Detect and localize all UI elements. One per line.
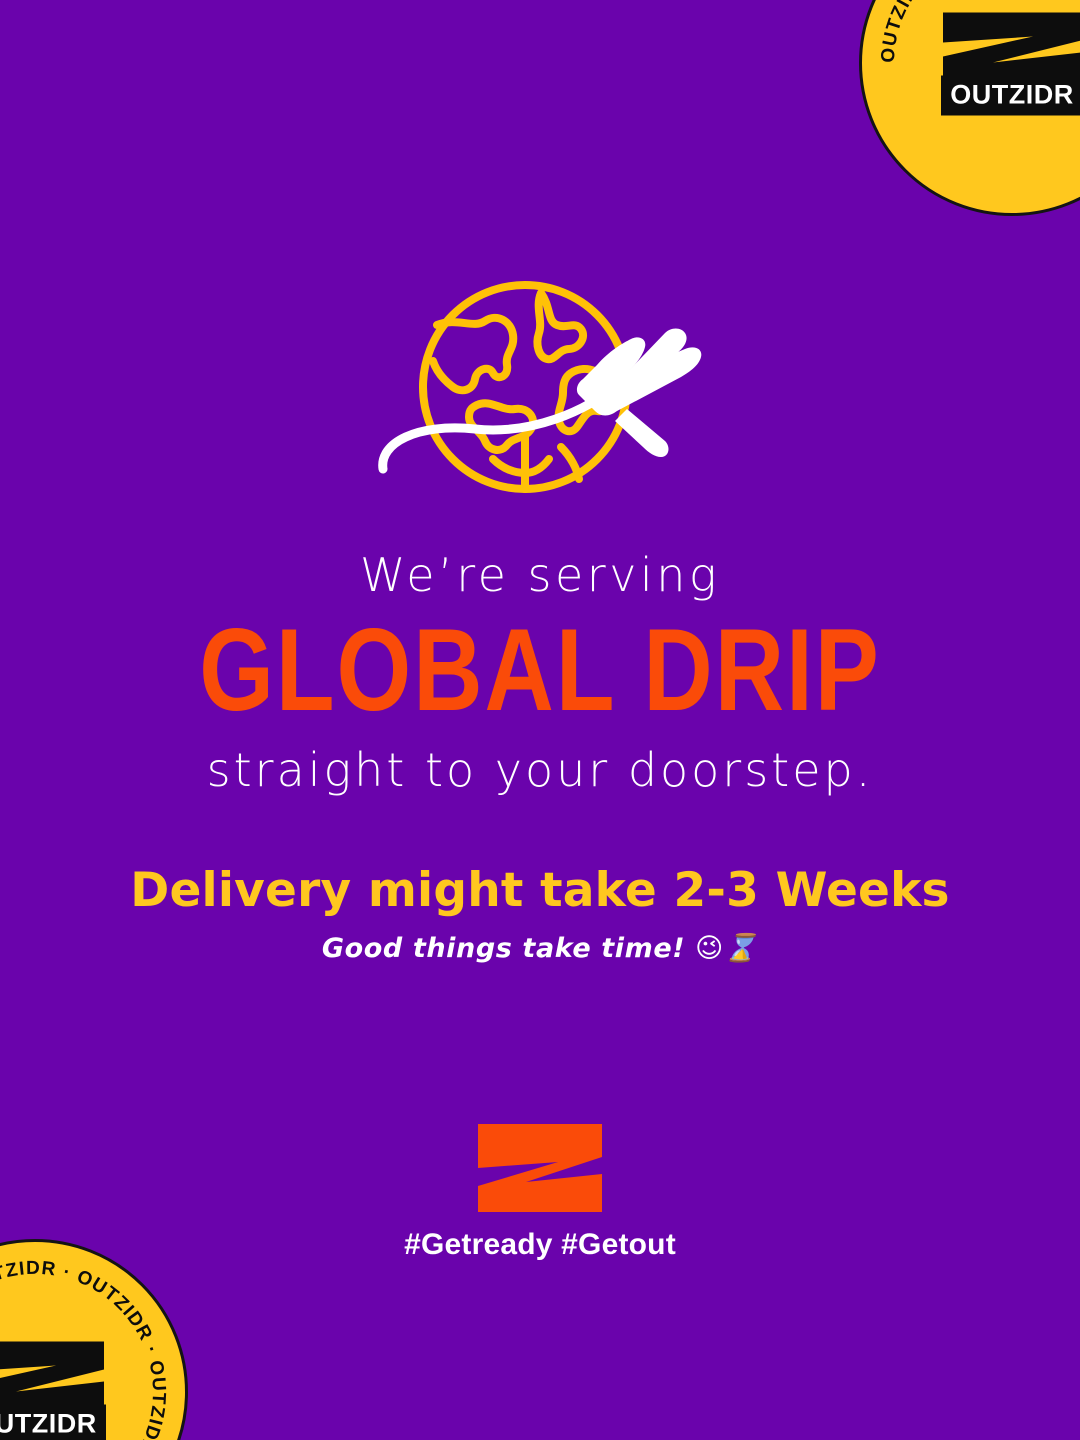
globe-airplane-illustration [365, 277, 715, 509]
delivery-notice: Delivery might take 2-3 Weeks [0, 863, 1080, 918]
delivery-subtitle: Good things take time! 😉⌛ [0, 932, 1080, 964]
brand-stamp-badge-bottom-left: OUTZIDR · OUTZIDR · OUTZIDR · OUTZIDR · … [0, 1239, 188, 1440]
globe-airplane-svg [365, 277, 715, 509]
badge-wordmark: OUTZIDR [0, 1405, 106, 1440]
badge-wordmark: OUTZIDR [941, 76, 1080, 116]
poster-canvas: OUTZIDR · OUTZIDR · OUTZIDR · OUTZIDR · … [0, 0, 1080, 1440]
badge-core-bottom-left: OUTZIDR [0, 1340, 123, 1440]
headline-block: We’re serving GLOBAL DRIP straight to yo… [0, 548, 1080, 964]
outzidr-z-logo-icon [478, 1124, 602, 1212]
outzidr-z-icon [0, 1340, 110, 1414]
airplane-wing-lower [615, 409, 668, 457]
badge-core-top-right: OUTZIDR [924, 11, 1080, 116]
headline-line-global-drip: GLOBAL DRIP [0, 610, 1080, 733]
outzidr-z-icon [937, 11, 1080, 85]
headline-line-doorstep: straight to your doorstep. [0, 743, 1080, 797]
footer-tagline: #Getready #Getout [404, 1228, 676, 1262]
airplane-icon [577, 329, 701, 458]
headline-line-serving: We’re serving [0, 548, 1080, 602]
brand-stamp-badge-top-right: OUTZIDR · OUTZIDR · OUTZIDR · OUTZIDR · … [859, 0, 1080, 216]
